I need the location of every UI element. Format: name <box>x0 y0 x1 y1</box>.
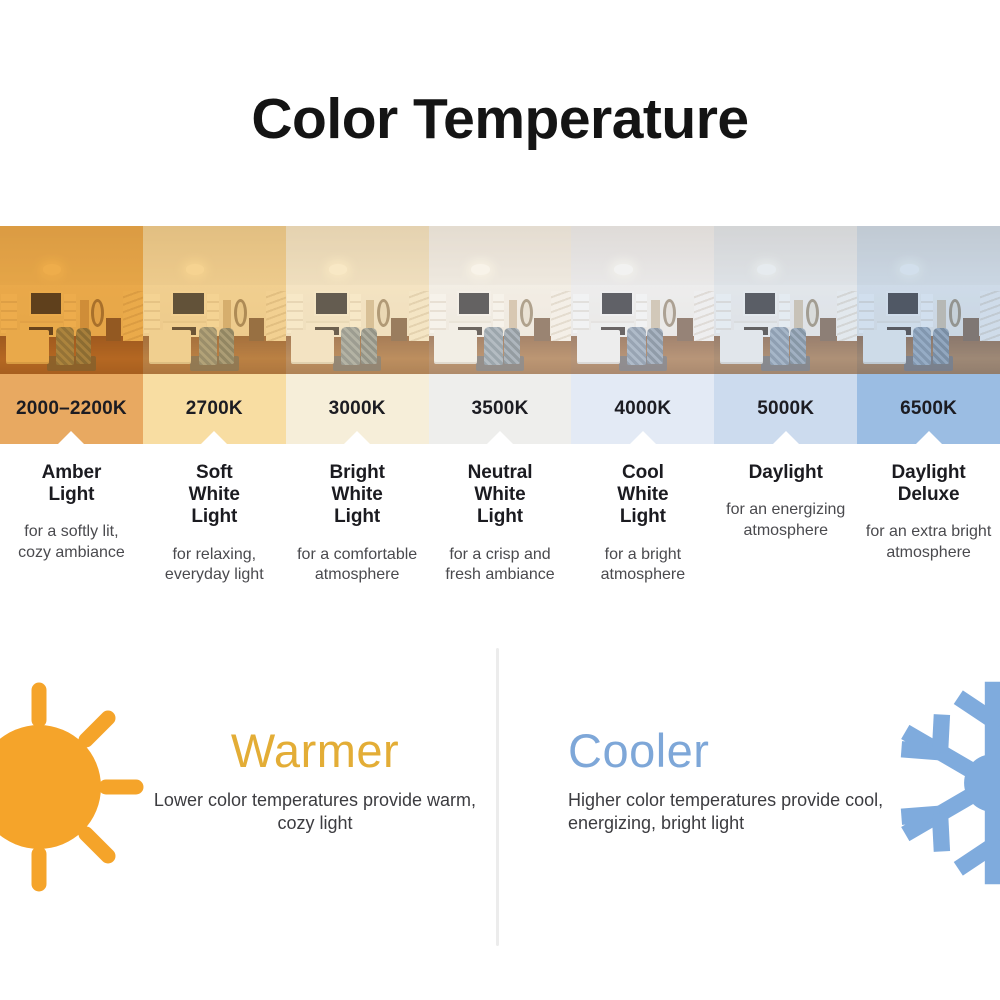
light-type-name: SoftWhiteLight <box>151 462 278 529</box>
room-photo-4 <box>571 226 714 374</box>
room-photo-3 <box>429 226 572 374</box>
kelvin-label: 6500K <box>900 398 957 420</box>
description-column-1: SoftWhiteLightfor relaxing, everyday lig… <box>143 462 286 622</box>
cooler-heading: Cooler <box>568 726 898 775</box>
kelvin-label: 5000K <box>757 398 814 420</box>
kelvin-label: 3500K <box>472 398 529 420</box>
light-type-description: for a bright atmosphere <box>579 545 706 587</box>
snowflake-icon <box>886 672 1000 894</box>
description-column-5: Daylightfor an energizing atmosphere <box>714 462 857 622</box>
light-type-description: for an energizing atmosphere <box>722 500 849 542</box>
light-type-name-line: Light <box>294 506 421 528</box>
description-column-2: BrightWhiteLightfor a comfortable atmosp… <box>286 462 429 622</box>
warmer-heading: Warmer <box>150 726 480 775</box>
room-photo-5 <box>714 226 857 374</box>
light-type-name: AmberLight <box>8 462 135 506</box>
sun-icon <box>0 672 154 902</box>
light-glow-overlay <box>571 226 714 374</box>
swatch-notch-icon <box>630 431 656 444</box>
light-glow-overlay <box>286 226 429 374</box>
light-type-description: for a softly lit, cozy ambiance <box>8 522 135 564</box>
swatch-notch-icon <box>58 431 84 444</box>
light-type-name: Daylight <box>722 462 849 484</box>
warmer-block: Warmer Lower color temperatures provide … <box>150 726 480 835</box>
warmer-blurb: Lower color temperatures provide warm, c… <box>150 789 480 835</box>
light-type-description: for relaxing, everyday light <box>151 545 278 587</box>
light-type-name-line: White <box>437 484 564 506</box>
description-column-6: DaylightDeluxefor an extra bright atmosp… <box>857 462 1000 622</box>
kelvin-label: 4000K <box>614 398 671 420</box>
room-photo-0 <box>0 226 143 374</box>
light-type-name-line: Light <box>151 506 278 528</box>
section-divider <box>496 648 499 946</box>
swatch-notch-icon <box>344 431 370 444</box>
light-type-name-line: Daylight <box>722 462 849 484</box>
light-type-name-line: Soft <box>151 462 278 484</box>
cooler-block: Cooler Higher color temperatures provide… <box>568 726 898 835</box>
light-type-name-line: Light <box>8 484 135 506</box>
light-glow-overlay <box>429 226 572 374</box>
light-type-name: BrightWhiteLight <box>294 462 421 529</box>
light-type-name-line: Daylight <box>865 462 992 484</box>
description-row: AmberLightfor a softly lit, cozy ambianc… <box>0 462 1000 622</box>
page-title: Color Temperature <box>0 86 1000 152</box>
kelvin-label: 2000–2200K <box>16 398 127 420</box>
light-glow-overlay <box>714 226 857 374</box>
light-glow-overlay <box>857 226 1000 374</box>
kelvin-label: 3000K <box>329 398 386 420</box>
light-type-description: for an extra bright atmosphere <box>865 522 992 564</box>
swatch-notch-icon <box>916 431 942 444</box>
light-type-description: for a comfortable atmosphere <box>294 545 421 587</box>
description-column-0: AmberLightfor a softly lit, cozy ambianc… <box>0 462 143 622</box>
room-photo-1 <box>143 226 286 374</box>
kelvin-swatch-5[interactable]: 5000K <box>714 374 857 444</box>
kelvin-swatch-0[interactable]: 2000–2200K <box>0 374 143 444</box>
light-type-name: DaylightDeluxe <box>865 462 992 506</box>
room-photo-strip <box>0 226 1000 374</box>
light-type-name-line: Light <box>579 506 706 528</box>
kelvin-swatch-1[interactable]: 2700K <box>143 374 286 444</box>
light-type-name-line: Bright <box>294 462 421 484</box>
swatch-notch-icon <box>487 431 513 444</box>
light-type-name-line: Cool <box>579 462 706 484</box>
kelvin-label: 2700K <box>186 398 243 420</box>
description-column-4: CoolWhiteLightfor a bright atmosphere <box>571 462 714 622</box>
light-type-name-line: Amber <box>8 462 135 484</box>
description-column-3: NeutralWhiteLightfor a crisp and fresh a… <box>429 462 572 622</box>
light-glow-overlay <box>143 226 286 374</box>
kelvin-swatch-6[interactable]: 6500K <box>857 374 1000 444</box>
light-type-name: NeutralWhiteLight <box>437 462 564 529</box>
light-type-description: for a crisp and fresh ambiance <box>437 545 564 587</box>
swatch-notch-icon <box>201 431 227 444</box>
room-photo-6 <box>857 226 1000 374</box>
light-type-name-line: Neutral <box>437 462 564 484</box>
light-type-name-line: Deluxe <box>865 484 992 506</box>
cooler-blurb: Higher color temperatures provide cool, … <box>568 789 898 835</box>
light-type-name-line: White <box>151 484 278 506</box>
room-photo-2 <box>286 226 429 374</box>
light-type-name-line: Light <box>437 506 564 528</box>
kelvin-swatch-2[interactable]: 3000K <box>286 374 429 444</box>
infographic-page: Color Temperature <box>0 0 1000 1000</box>
light-type-name: CoolWhiteLight <box>579 462 706 529</box>
kelvin-swatch-4[interactable]: 4000K <box>571 374 714 444</box>
light-type-name-line: White <box>579 484 706 506</box>
kelvin-swatch-row: 2000–2200K2700K3000K3500K4000K5000K6500K <box>0 374 1000 444</box>
light-type-name-line: White <box>294 484 421 506</box>
light-glow-overlay <box>0 226 143 374</box>
kelvin-swatch-3[interactable]: 3500K <box>429 374 572 444</box>
swatch-notch-icon <box>773 431 799 444</box>
